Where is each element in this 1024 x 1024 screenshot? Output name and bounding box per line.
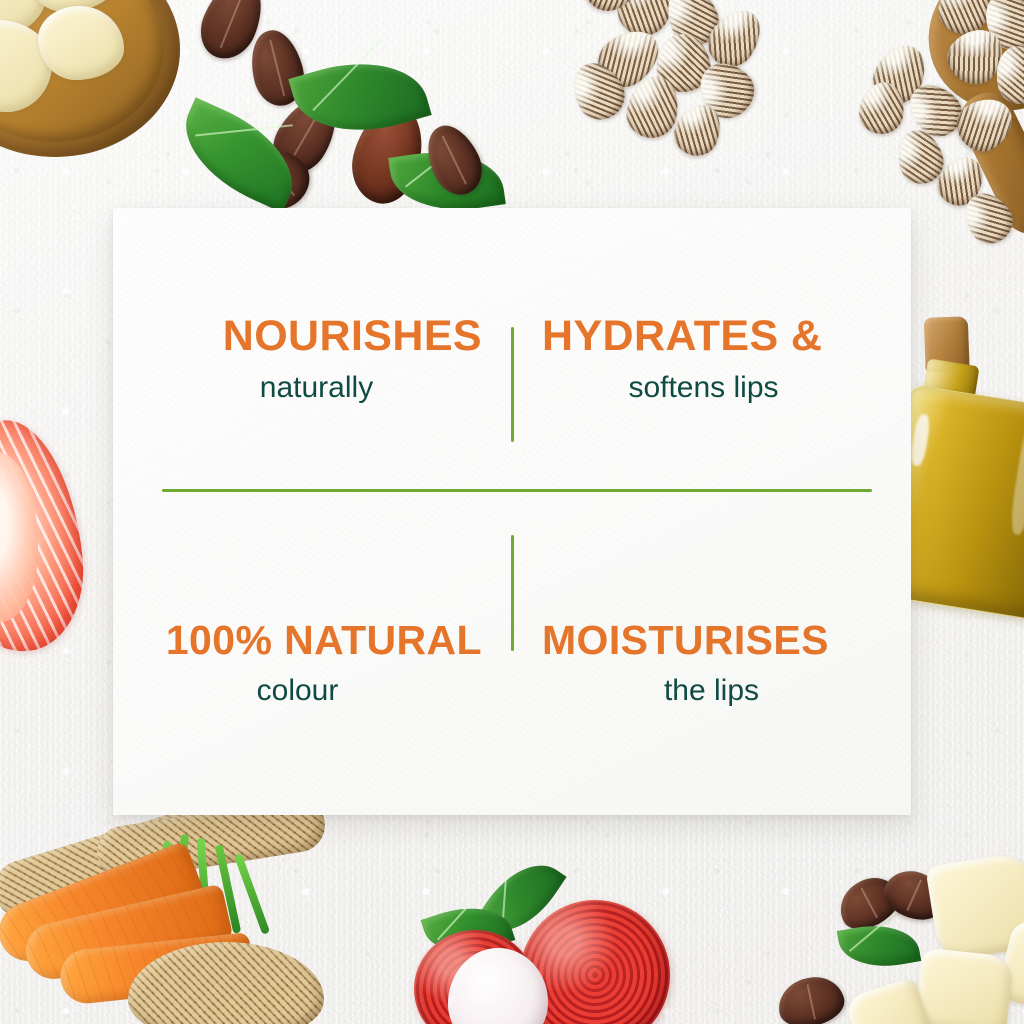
horizontal-divider xyxy=(162,489,872,492)
benefit-quadrant-hydrates: HYDRATES & softens lips xyxy=(512,208,911,512)
benefit-headline: 100% NATURAL xyxy=(166,620,482,662)
benefit-headline: MOISTURISES xyxy=(542,620,829,662)
benefit-subtitle: colour xyxy=(257,674,339,707)
benefits-card: NOURISHES naturally HYDRATES & softens l… xyxy=(113,208,911,815)
benefit-subtitle: the lips xyxy=(664,674,759,707)
benefit-quadrant-natural-colour: 100% NATURAL colour xyxy=(113,512,512,816)
benefit-subtitle: naturally xyxy=(260,371,373,404)
vertical-divider-top xyxy=(511,327,514,442)
benefit-quadrant-nourishes: NOURISHES naturally xyxy=(113,208,512,512)
benefit-headline: HYDRATES & xyxy=(542,315,822,359)
vertical-divider-bottom xyxy=(511,535,514,651)
benefit-headline: NOURISHES xyxy=(223,315,482,359)
benefit-subtitle: softens lips xyxy=(628,371,778,404)
product-benefits-graphic: NOURISHES naturally HYDRATES & softens l… xyxy=(0,0,1024,1024)
benefits-grid: NOURISHES naturally HYDRATES & softens l… xyxy=(113,208,911,815)
benefit-quadrant-moisturises: MOISTURISES the lips xyxy=(512,512,911,816)
shea-chunk-icon xyxy=(914,947,1014,1024)
